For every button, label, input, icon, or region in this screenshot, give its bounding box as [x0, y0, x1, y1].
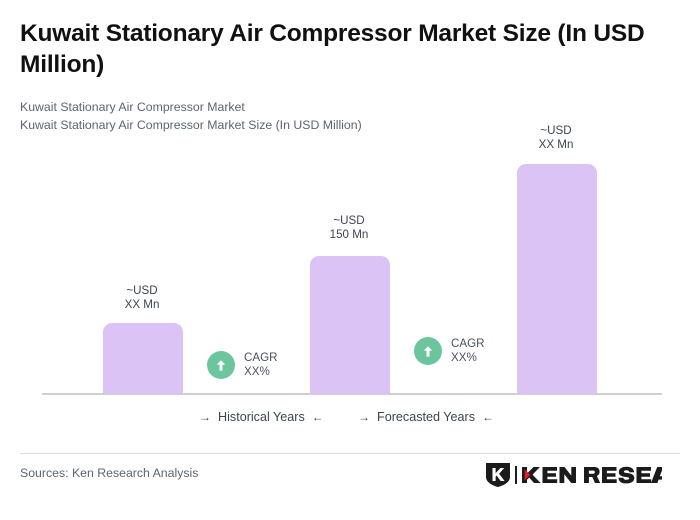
ken-research-logo [484, 462, 662, 488]
bar-value-label-line1: ~USD [516, 124, 596, 138]
bar-value-label-line1: ~USD [309, 214, 389, 228]
bar-value-label-line1: ~USD [102, 284, 182, 298]
chart-page: Kuwait Stationary Air Compressor Market … [0, 0, 700, 520]
cagr-label-line1: CAGR [451, 337, 485, 351]
plot-area: ~USD XX Mn CAGR XX% ~USD 150 Mn [0, 0, 700, 400]
arrow-up-icon [207, 351, 235, 379]
bar-mid-year[interactable] [310, 256, 390, 394]
cagr-label: CAGR XX% [451, 337, 485, 365]
cagr-badge[interactable]: CAGR XX% [414, 337, 485, 365]
bar-value-label: ~USD 150 Mn [309, 214, 389, 242]
bar-historical[interactable] [103, 323, 183, 394]
bar-value-label: ~USD XX Mn [516, 124, 596, 152]
legend-forecasted-label: Forecasted Years [377, 410, 475, 424]
bar-value-label: ~USD XX Mn [102, 284, 182, 312]
arrow-right-icon: → [199, 410, 211, 424]
bar-value-label-line2: XX Mn [102, 298, 182, 312]
cagr-label-line1: CAGR [244, 351, 278, 365]
arrow-left-icon: ← [312, 410, 324, 424]
arrow-up-icon [414, 337, 442, 365]
arrow-left-icon: ← [482, 410, 494, 424]
cagr-label-line2: XX% [244, 365, 278, 379]
bar-forecasted[interactable] [517, 164, 597, 394]
legend-historical-years: → Historical Years ← [199, 410, 324, 424]
cagr-badge[interactable]: CAGR XX% [207, 351, 278, 379]
legend-forecasted-years: → Forecasted Years ← [358, 410, 494, 424]
arrow-right-icon: → [358, 410, 370, 424]
cagr-label-line2: XX% [451, 351, 485, 365]
bar-value-label-line2: 150 Mn [309, 228, 389, 242]
footer-divider [20, 453, 680, 454]
legend-historical-label: Historical Years [218, 410, 305, 424]
cagr-label: CAGR XX% [244, 351, 278, 379]
sources-note: Sources: Ken Research Analysis [20, 466, 198, 480]
bar-value-label-line2: XX Mn [516, 138, 596, 152]
